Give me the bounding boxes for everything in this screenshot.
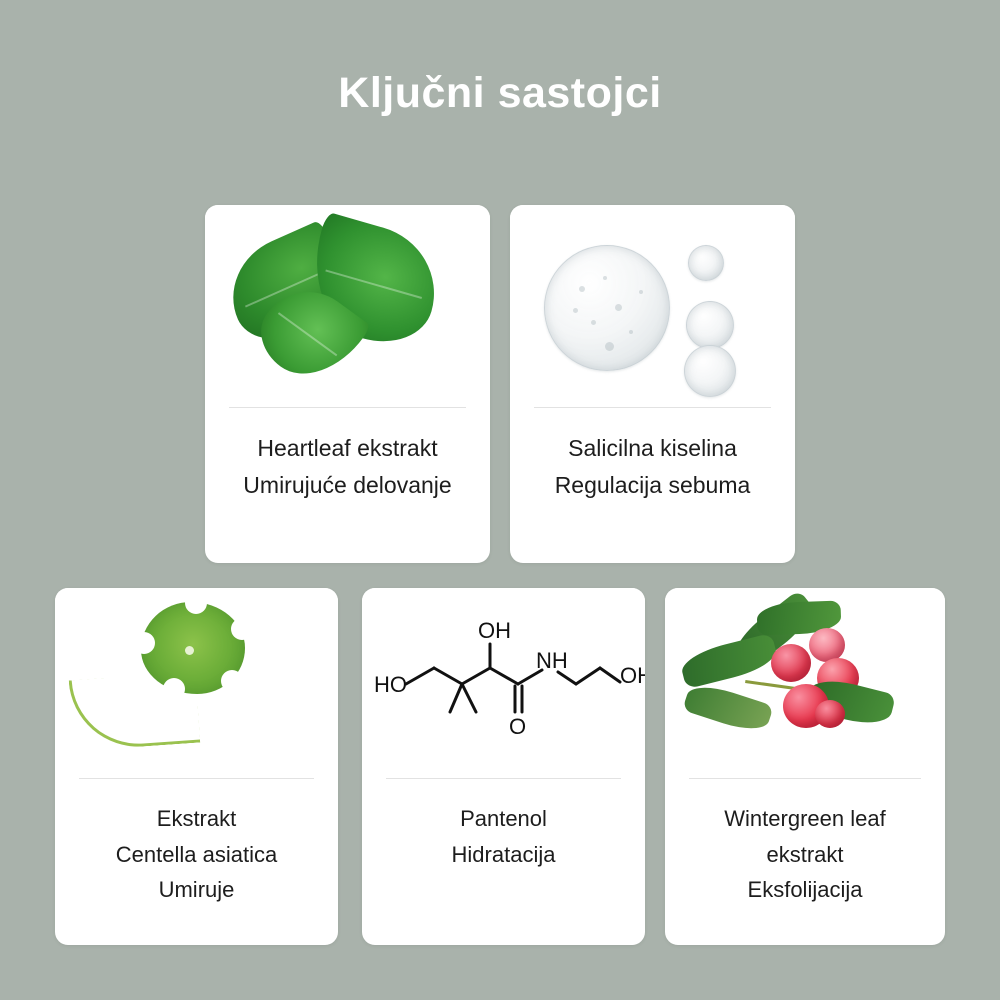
gel-droplet-icon <box>688 245 724 281</box>
gel-droplet-icon <box>544 245 670 371</box>
wintergreen-leaf-icon <box>682 679 774 736</box>
wintergreen-berry-icon <box>809 628 845 662</box>
ingredient-name-2: Centella asiatica <box>116 837 277 873</box>
wintergreen-berry-icon <box>771 644 811 682</box>
ingredient-caption: Salicilna kiselina Regulacija sebuma <box>510 408 795 563</box>
formula-label-ho: HO <box>374 672 407 697</box>
wintergreen-leaf-icon <box>678 633 779 689</box>
ingredient-name: Salicilna kiselina <box>568 430 737 467</box>
ingredient-card-centella[interactable]: Ekstrakt Centella asiatica Umiruje <box>55 588 338 945</box>
centella-leaf-image <box>55 588 338 778</box>
ingredient-benefit: Regulacija sebuma <box>555 467 751 504</box>
ingredient-caption: Pantenol Hidratacija <box>362 779 645 945</box>
ingredient-name-2: ekstrakt <box>766 837 843 873</box>
panthenol-chemical-structure-icon: HO OH NH O OH <box>362 588 645 778</box>
gel-droplets-image <box>510 205 795 407</box>
ingredient-benefit: Umirujuće delovanje <box>243 467 451 504</box>
ingredient-benefit: Eksfolijacija <box>748 872 863 908</box>
formula-label-oh-top: OH <box>478 618 511 643</box>
ingredient-card-panthenol[interactable]: HO OH NH O OH Pantenol Hidratacija <box>362 588 645 945</box>
formula-label-nh: NH <box>536 648 568 673</box>
ingredient-benefit: Umiruje <box>159 872 235 908</box>
ingredient-name: Heartleaf ekstrakt <box>257 430 437 467</box>
ingredient-card-salicylic-acid[interactable]: Salicilna kiselina Regulacija sebuma <box>510 205 795 563</box>
key-ingredients-page: Ključni sastojci Heartleaf ekstrakt Umir… <box>0 0 1000 1000</box>
ingredient-caption: Ekstrakt Centella asiatica Umiruje <box>55 779 338 945</box>
ingredient-card-heartleaf[interactable]: Heartleaf ekstrakt Umirujuće delovanje <box>205 205 490 563</box>
panthenol-structure-image: HO OH NH O OH <box>362 588 645 778</box>
page-title: Ključni sastojci <box>0 70 1000 117</box>
ingredient-name: Ekstrakt <box>157 801 236 837</box>
ingredient-card-wintergreen[interactable]: Wintergreen leaf ekstrakt Eksfolijacija <box>665 588 945 945</box>
gel-droplet-icon <box>686 301 734 349</box>
formula-label-o: O <box>509 714 526 739</box>
ingredient-name: Pantenol <box>460 801 547 837</box>
ingredient-name: Wintergreen leaf <box>724 801 885 837</box>
gel-droplet-icon <box>684 345 736 397</box>
ingredient-caption: Wintergreen leaf ekstrakt Eksfolijacija <box>665 779 945 945</box>
ingredient-benefit: Hidratacija <box>452 837 556 873</box>
wintergreen-berries-image <box>665 588 945 778</box>
heartleaf-leaves-image <box>205 205 490 407</box>
wintergreen-berry-icon <box>815 700 845 728</box>
leaf-center <box>185 646 194 655</box>
ingredient-caption: Heartleaf ekstrakt Umirujuće delovanje <box>205 408 490 563</box>
formula-label-oh-right: OH <box>620 663 645 688</box>
